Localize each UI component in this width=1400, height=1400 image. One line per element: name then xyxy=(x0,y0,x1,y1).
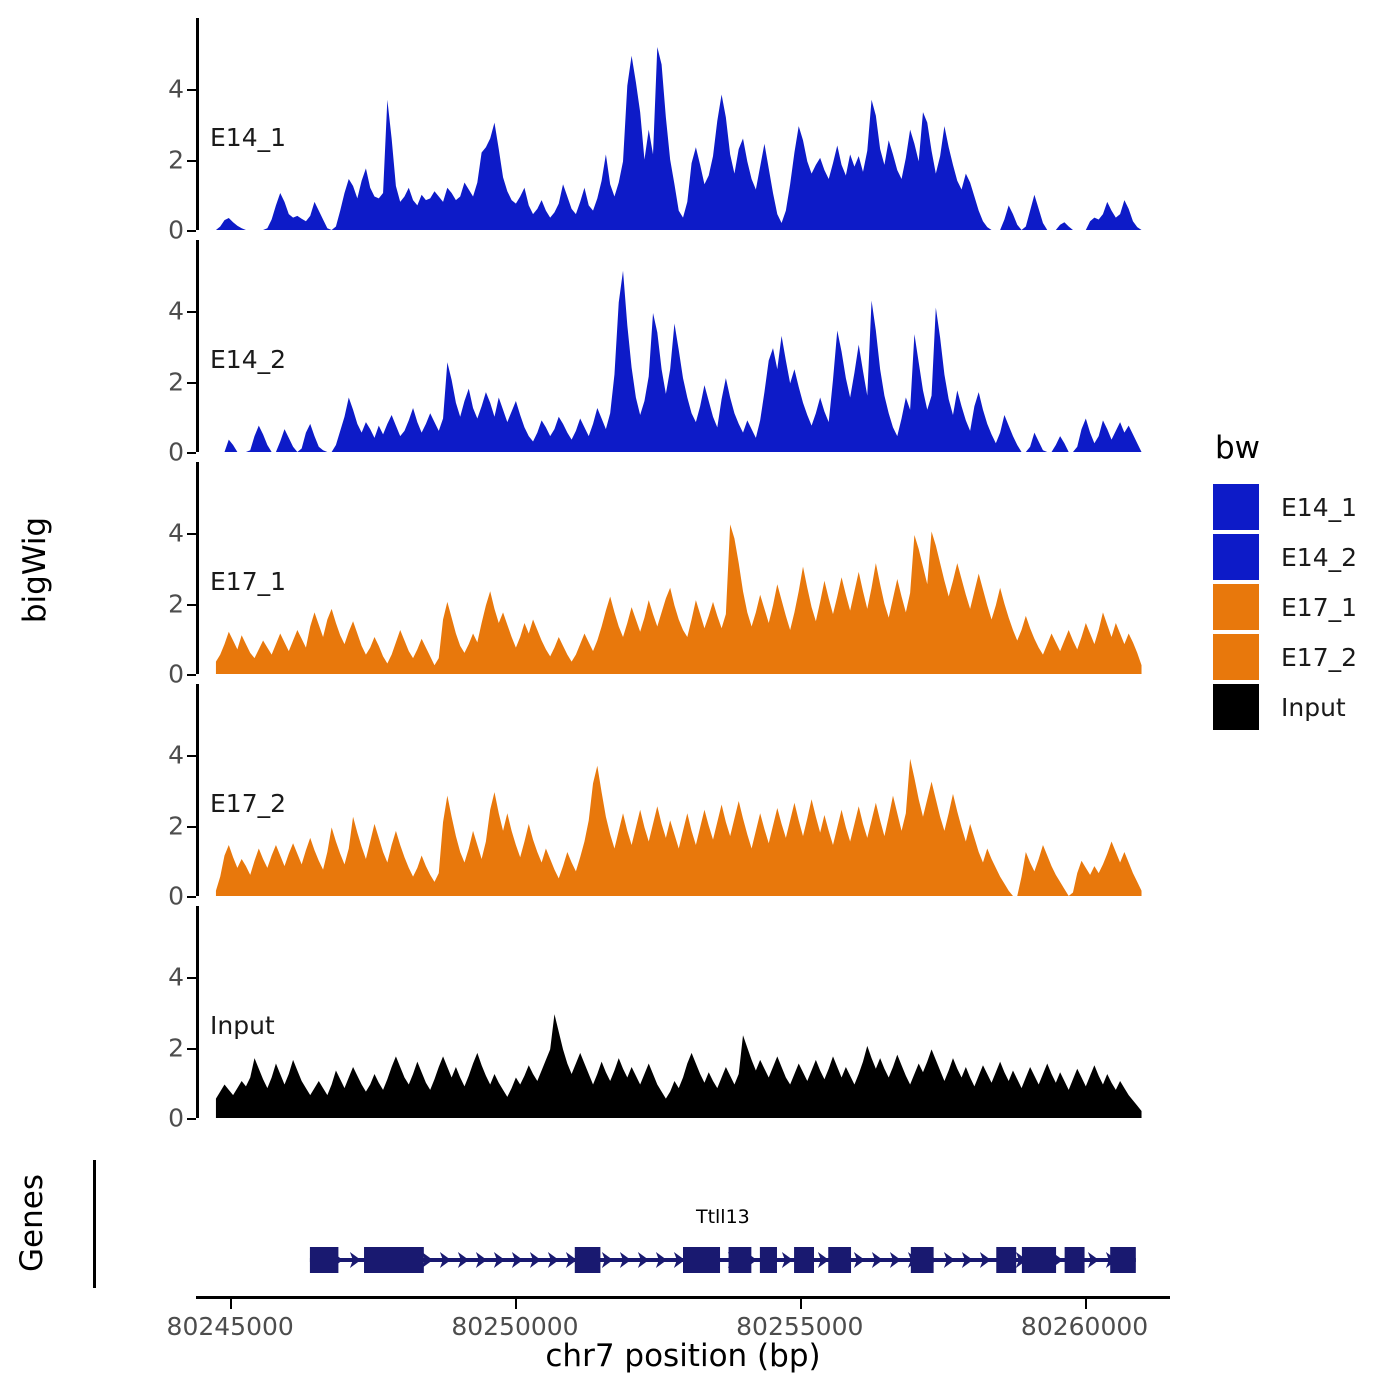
genes-axis-title: Genes xyxy=(14,1143,50,1303)
exon-box xyxy=(794,1247,814,1273)
exon-box xyxy=(760,1247,777,1273)
y-tick xyxy=(187,1048,196,1050)
legend-color-swatch xyxy=(1213,584,1259,630)
x-tick-label: 80250000 xyxy=(451,1312,578,1341)
x-axis-line xyxy=(196,1296,1170,1299)
y-tick-label: 0 xyxy=(168,1104,184,1133)
legend-item-e14_2[interactable]: E14_2 xyxy=(1213,532,1393,582)
legend-item-e17_2[interactable]: E17_2 xyxy=(1213,632,1393,682)
genes-axis-line xyxy=(93,1160,96,1288)
y-tick xyxy=(187,533,196,535)
y-tick xyxy=(187,674,196,676)
x-axis-title: chr7 position (bp) xyxy=(196,1338,1170,1374)
legend-item-e17_1[interactable]: E17_1 xyxy=(1213,582,1393,632)
y-tick-label: 2 xyxy=(168,145,184,174)
legend-rows: E14_1E14_2E17_1E17_2Input xyxy=(1213,482,1393,732)
exon-box xyxy=(1065,1247,1085,1273)
y-tick-label: 2 xyxy=(168,367,184,396)
y-tick xyxy=(187,382,196,384)
track-label-e17_2: E17_2 xyxy=(210,789,286,818)
x-tick xyxy=(230,1299,232,1309)
legend-label: E14_1 xyxy=(1281,493,1357,522)
exon-box xyxy=(729,1247,752,1273)
gene-model xyxy=(196,1160,1170,1288)
legend-label: Input xyxy=(1281,693,1346,722)
bigwig-axis-title: bigWig xyxy=(17,480,53,660)
track-panel-e14_1: 024E14_1 xyxy=(196,18,1170,230)
y-tick-label: 0 xyxy=(168,438,184,467)
signal-area-e17_2 xyxy=(196,684,1170,896)
x-tick-label: 80255000 xyxy=(736,1312,863,1341)
x-tick xyxy=(1085,1299,1087,1309)
y-tick xyxy=(187,896,196,898)
signal-area-input xyxy=(196,906,1170,1118)
signal-area-e14_2 xyxy=(196,240,1170,452)
y-tick xyxy=(187,89,196,91)
exon-box xyxy=(575,1247,601,1273)
exon-box xyxy=(364,1247,424,1273)
y-tick xyxy=(187,604,196,606)
track-panel-e17_1: 024E17_1 xyxy=(196,462,1170,674)
signal-area-e17_1 xyxy=(196,462,1170,674)
exon-box xyxy=(310,1247,338,1273)
legend-label: E17_1 xyxy=(1281,593,1357,622)
legend-label: E17_2 xyxy=(1281,643,1357,672)
y-tick-label: 4 xyxy=(168,741,184,770)
exon-box xyxy=(911,1247,934,1273)
x-tick-label: 80245000 xyxy=(167,1312,294,1341)
signal-area-e14_1 xyxy=(196,18,1170,230)
track-panel-input: 024Input xyxy=(196,906,1170,1118)
y-tick-label: 0 xyxy=(168,882,184,911)
y-tick xyxy=(187,230,196,232)
legend: bw E14_1E14_2E17_1E17_2Input xyxy=(1213,430,1393,732)
legend-color-swatch xyxy=(1213,634,1259,680)
y-tick-label: 2 xyxy=(168,589,184,618)
x-tick xyxy=(800,1299,802,1309)
exon-box xyxy=(996,1247,1016,1273)
y-tick-label: 4 xyxy=(168,75,184,104)
y-tick xyxy=(187,977,196,979)
y-tick xyxy=(187,311,196,313)
legend-color-swatch xyxy=(1213,484,1259,530)
exon-box xyxy=(1110,1247,1136,1273)
track-label-input: Input xyxy=(210,1011,275,1040)
y-tick-label: 0 xyxy=(168,216,184,245)
y-tick xyxy=(187,160,196,162)
legend-item-input[interactable]: Input xyxy=(1213,682,1393,732)
exon-box xyxy=(828,1247,851,1273)
y-tick-label: 4 xyxy=(168,963,184,992)
gene-track-panel xyxy=(196,1160,1170,1288)
legend-label: E14_2 xyxy=(1281,543,1357,572)
legend-color-swatch xyxy=(1213,534,1259,580)
x-tick xyxy=(515,1299,517,1309)
y-tick-label: 0 xyxy=(168,660,184,689)
track-panel-e14_2: 024E14_2 xyxy=(196,240,1170,452)
track-label-e14_2: E14_2 xyxy=(210,345,286,374)
gene-name-label: Ttll13 xyxy=(696,1206,750,1228)
track-label-e17_1: E17_1 xyxy=(210,567,286,596)
y-tick xyxy=(187,826,196,828)
y-tick-label: 4 xyxy=(168,297,184,326)
y-tick-label: 2 xyxy=(168,811,184,840)
y-tick xyxy=(187,755,196,757)
exon-box xyxy=(1022,1247,1056,1273)
legend-item-e14_1[interactable]: E14_1 xyxy=(1213,482,1393,532)
legend-title: bw xyxy=(1215,430,1393,466)
y-tick xyxy=(187,1118,196,1120)
x-tick-label: 80260000 xyxy=(1021,1312,1148,1341)
track-panel-e17_2: 024E17_2 xyxy=(196,684,1170,896)
legend-color-swatch xyxy=(1213,684,1259,730)
y-tick-label: 4 xyxy=(168,519,184,548)
track-label-e14_1: E14_1 xyxy=(210,123,286,152)
y-tick xyxy=(187,452,196,454)
y-tick-label: 2 xyxy=(168,1033,184,1062)
exon-box xyxy=(683,1247,720,1273)
